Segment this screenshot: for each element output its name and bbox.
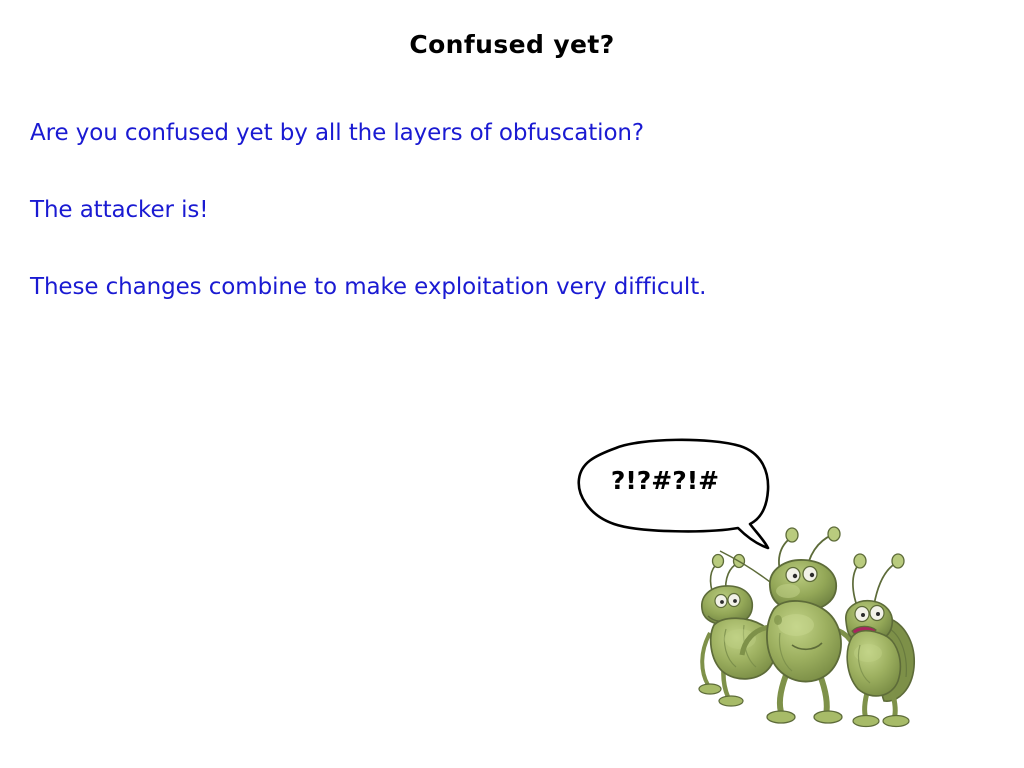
speech-bubble-text: ?!?#?!# — [570, 466, 760, 495]
body-line-1: Are you confused yet by all the layers o… — [30, 118, 930, 148]
bugs-illustration — [688, 525, 923, 730]
slide-canvas: Confused yet? Are you confused yet by al… — [0, 0, 1024, 768]
page-title: Confused yet? — [0, 30, 1024, 59]
body-line-3: These changes combine to make exploitati… — [30, 272, 930, 302]
right-bug — [846, 554, 914, 727]
body-line-2: The attacker is! — [30, 195, 930, 225]
three-bugs-drawing — [688, 525, 923, 730]
body-text-block: Are you confused yet by all the layers o… — [30, 118, 930, 302]
